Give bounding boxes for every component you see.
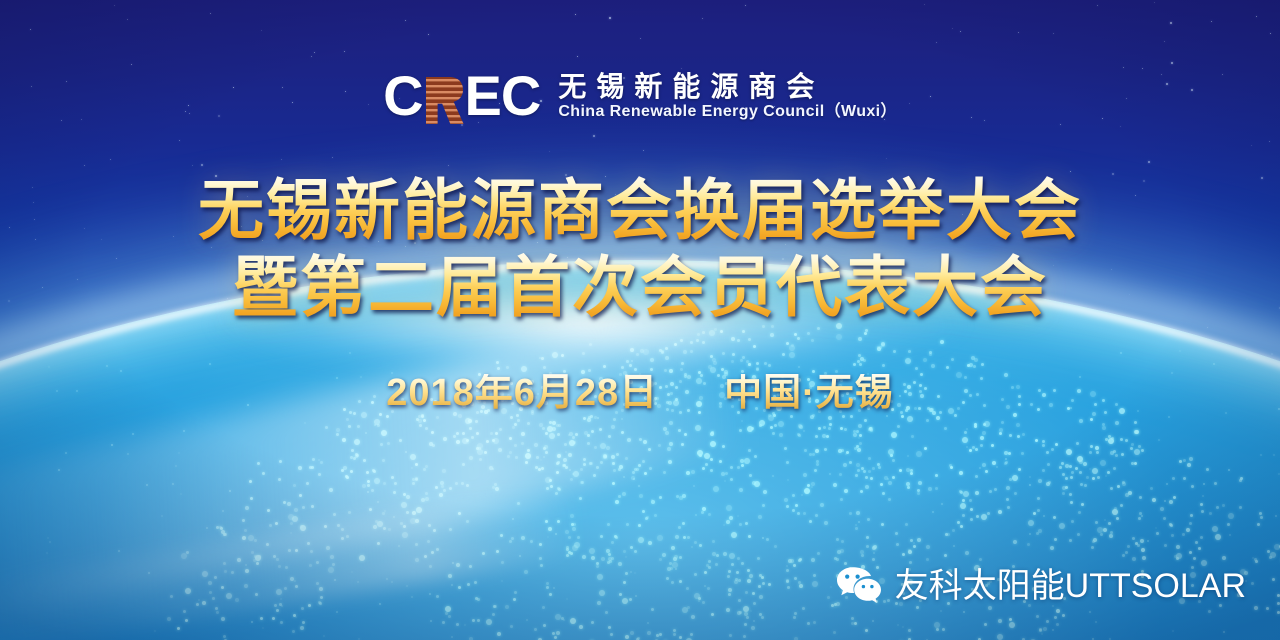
crec-english-name: China Renewable Energy Council（Wuxi） (558, 104, 897, 120)
horizon-light-streak (0, 304, 746, 635)
event-title: 无锡新能源商会换届选举大会 暨第二届首次会员代表大会 (0, 172, 1280, 326)
crec-chinese-name: 无锡新能源商会 (558, 73, 897, 101)
crec-logo-lockup: C (0, 68, 1280, 124)
crec-letter-c: C (383, 68, 422, 124)
conference-banner: C (0, 0, 1280, 640)
event-date: 2018年6月28日 (386, 374, 658, 412)
event-location: 中国·无锡 (724, 374, 894, 412)
wechat-icon (836, 566, 882, 606)
crec-name-block: 无锡新能源商会 China Renewable Energy Council（W… (558, 73, 897, 120)
crec-letters-ec: EC (465, 68, 541, 124)
event-title-line-1: 无锡新能源商会换届选举大会 (0, 172, 1280, 249)
horizon-light-streak-secondary (0, 488, 582, 640)
event-title-line-2: 暨第二届首次会员代表大会 (0, 249, 1280, 326)
wechat-watermark: 友科太阳能UTTSOLAR (836, 566, 1246, 606)
wechat-watermark-label: 友科太阳能UTTSOLAR (895, 569, 1246, 603)
event-meta-row: 2018年6月28日 中国·无锡 (0, 374, 1280, 412)
striped-r-glyph-icon (424, 77, 464, 124)
crec-wordmark: C (383, 68, 540, 124)
